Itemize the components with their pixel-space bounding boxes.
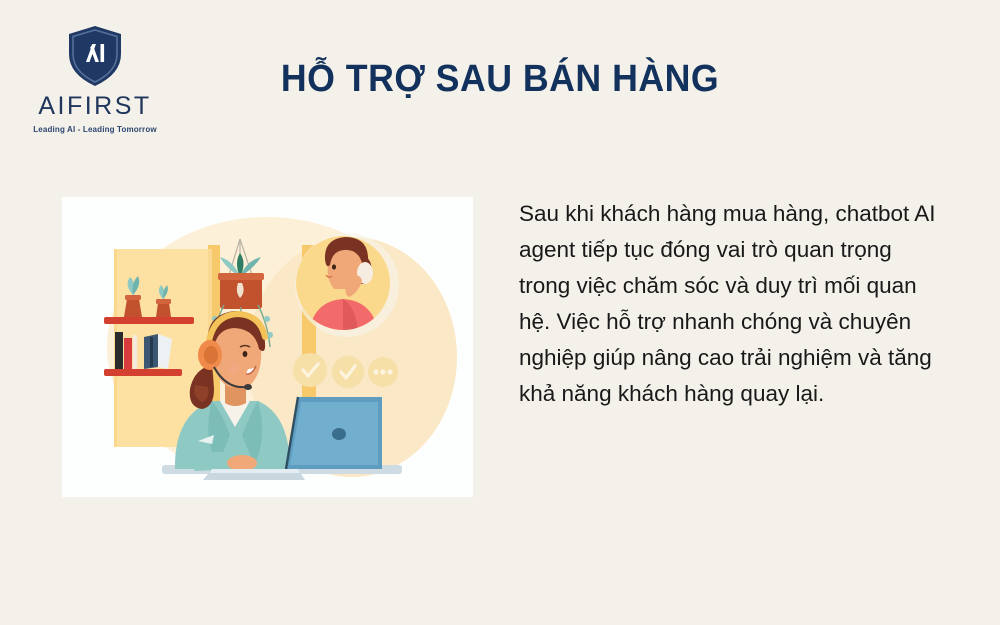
check-badge-2 xyxy=(332,356,364,388)
customer-bubble xyxy=(295,233,399,337)
illustration-panel xyxy=(62,197,473,497)
support-illustration xyxy=(62,197,473,497)
page-title: HỖ TRỢ SAU BÁN HÀNG xyxy=(30,58,970,101)
shelf-lower xyxy=(104,369,182,376)
body-paragraph: Sau khi khách hàng mua hàng, chatbot AI … xyxy=(519,196,939,412)
shelf-upper xyxy=(104,317,194,324)
logo-tagline: Leading AI - Leading Tomorrow xyxy=(20,126,170,134)
check-badge-1 xyxy=(293,353,327,387)
status-badges xyxy=(293,353,398,388)
